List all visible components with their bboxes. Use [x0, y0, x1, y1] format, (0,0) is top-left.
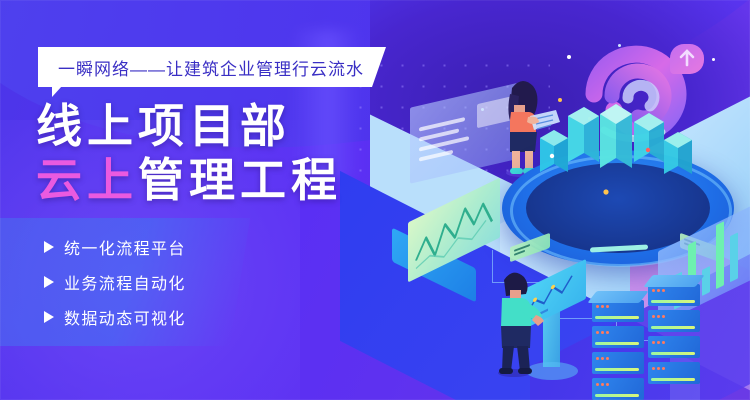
headline-accent: 云上: [36, 154, 138, 206]
tagline-text: 一瞬网络——让建筑企业管理行云流水: [58, 55, 364, 80]
man-at-kiosk: [484, 262, 554, 378]
server-unit: [592, 300, 644, 322]
server-led-strip: [595, 394, 639, 397]
server-unit: [648, 284, 700, 306]
ui-card-line: [419, 150, 453, 162]
server-unit: [648, 336, 700, 358]
headline-line-2: 云上管理工程: [36, 157, 342, 204]
list-item-label: 数据动态可视化: [64, 305, 186, 329]
chart-bar: [716, 221, 724, 289]
server-led-dots: [652, 315, 665, 318]
server-led-strip: [651, 326, 695, 329]
server-led-dots: [652, 341, 665, 344]
triangle-right-icon: [44, 311, 54, 323]
city-blocks: [506, 96, 732, 221]
server-led-strip: [595, 342, 639, 345]
tagline-bubble: 一瞬网络——让建筑企业管理行云流水: [38, 47, 386, 87]
server-led-dots: [652, 367, 665, 370]
server-unit: [592, 352, 644, 374]
server-led-dots: [596, 357, 609, 360]
server-led-dots: [596, 331, 609, 334]
list-item: 业务流程自动化: [44, 270, 186, 294]
list-item-label: 统一化流程平台: [64, 235, 186, 259]
triangle-right-icon: [44, 241, 54, 253]
list-item: 统一化流程平台: [44, 235, 186, 259]
server-led-strip: [651, 300, 695, 303]
feature-list: 统一化流程平台 业务流程自动化 数据动态可视化: [44, 235, 186, 340]
server-unit: [592, 378, 644, 400]
headline: 线上项目部 云上管理工程: [36, 103, 342, 204]
server-led-strip: [595, 368, 639, 371]
headline-rest: 管理工程: [138, 154, 342, 206]
list-item: 数据动态可视化: [44, 305, 186, 329]
server-unit: [648, 362, 700, 384]
list-item-label: 业务流程自动化: [64, 270, 186, 294]
server-unit: [648, 310, 700, 332]
server-unit: [592, 326, 644, 348]
server-led-strip: [651, 378, 695, 381]
server-unit-top: [643, 275, 704, 287]
server-led-dots: [596, 383, 609, 386]
server-led-dots: [652, 289, 665, 292]
chart-bar: [730, 232, 738, 282]
triangle-right-icon: [44, 276, 54, 288]
banner-root: 一瞬网络——让建筑企业管理行云流水 线上项目部 云上管理工程 统一化流程平台 业…: [0, 0, 750, 400]
tagline-bubble-tail: [52, 86, 62, 97]
server-unit-top: [587, 291, 648, 303]
server-led-strip: [595, 316, 639, 319]
server-led-dots: [596, 305, 609, 308]
server-led-strip: [651, 352, 695, 355]
headline-line-1: 线上项目部: [36, 103, 342, 150]
chart-bar: [702, 266, 710, 296]
illustration: [380, 0, 750, 400]
swirl-badge-icon: [670, 44, 704, 74]
